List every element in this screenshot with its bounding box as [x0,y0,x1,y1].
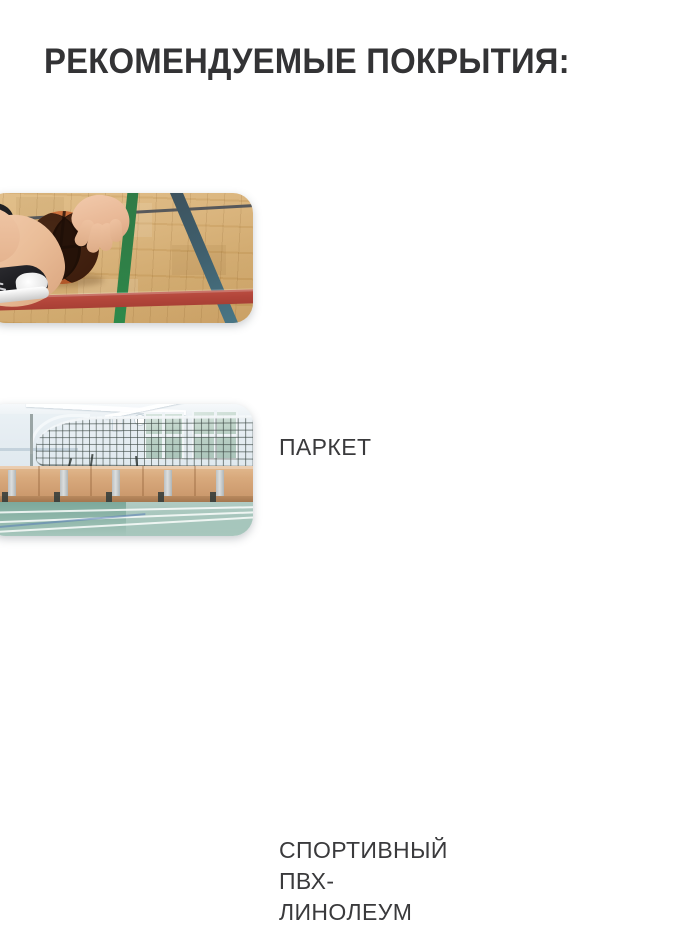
slide-root: РЕКОМЕНДУЕМЫЕ ПОКРЫТИЯ: [0,0,700,700]
panel-metal-strip [164,470,172,498]
volleyball-net-side-band [30,414,33,474]
panel-metal-strip [216,470,224,498]
panel-divider [90,466,92,500]
covering-label-parquet: ПАРКЕТ [279,432,371,463]
panel-divider [38,466,40,500]
panel-metal-strip [8,470,16,498]
photo-parquet [0,193,253,323]
covering-label-pvc: СПОРТИВНЫЙ ПВХ-ЛИНОЛЕУМ [279,835,448,928]
panel-metal-strip [60,470,68,498]
photo-card-pvc[interactable] [0,404,253,536]
panel-divider [142,466,144,500]
panel-metal-strip [112,470,120,498]
page-title: РЕКОМЕНДУЕМЫЕ ПОКРЫТИЯ: [44,40,570,84]
athlete-finger [109,219,123,243]
photo-card-parquet[interactable] [0,193,253,323]
photo-gym-hall [0,404,253,536]
panel-divider [194,466,196,500]
